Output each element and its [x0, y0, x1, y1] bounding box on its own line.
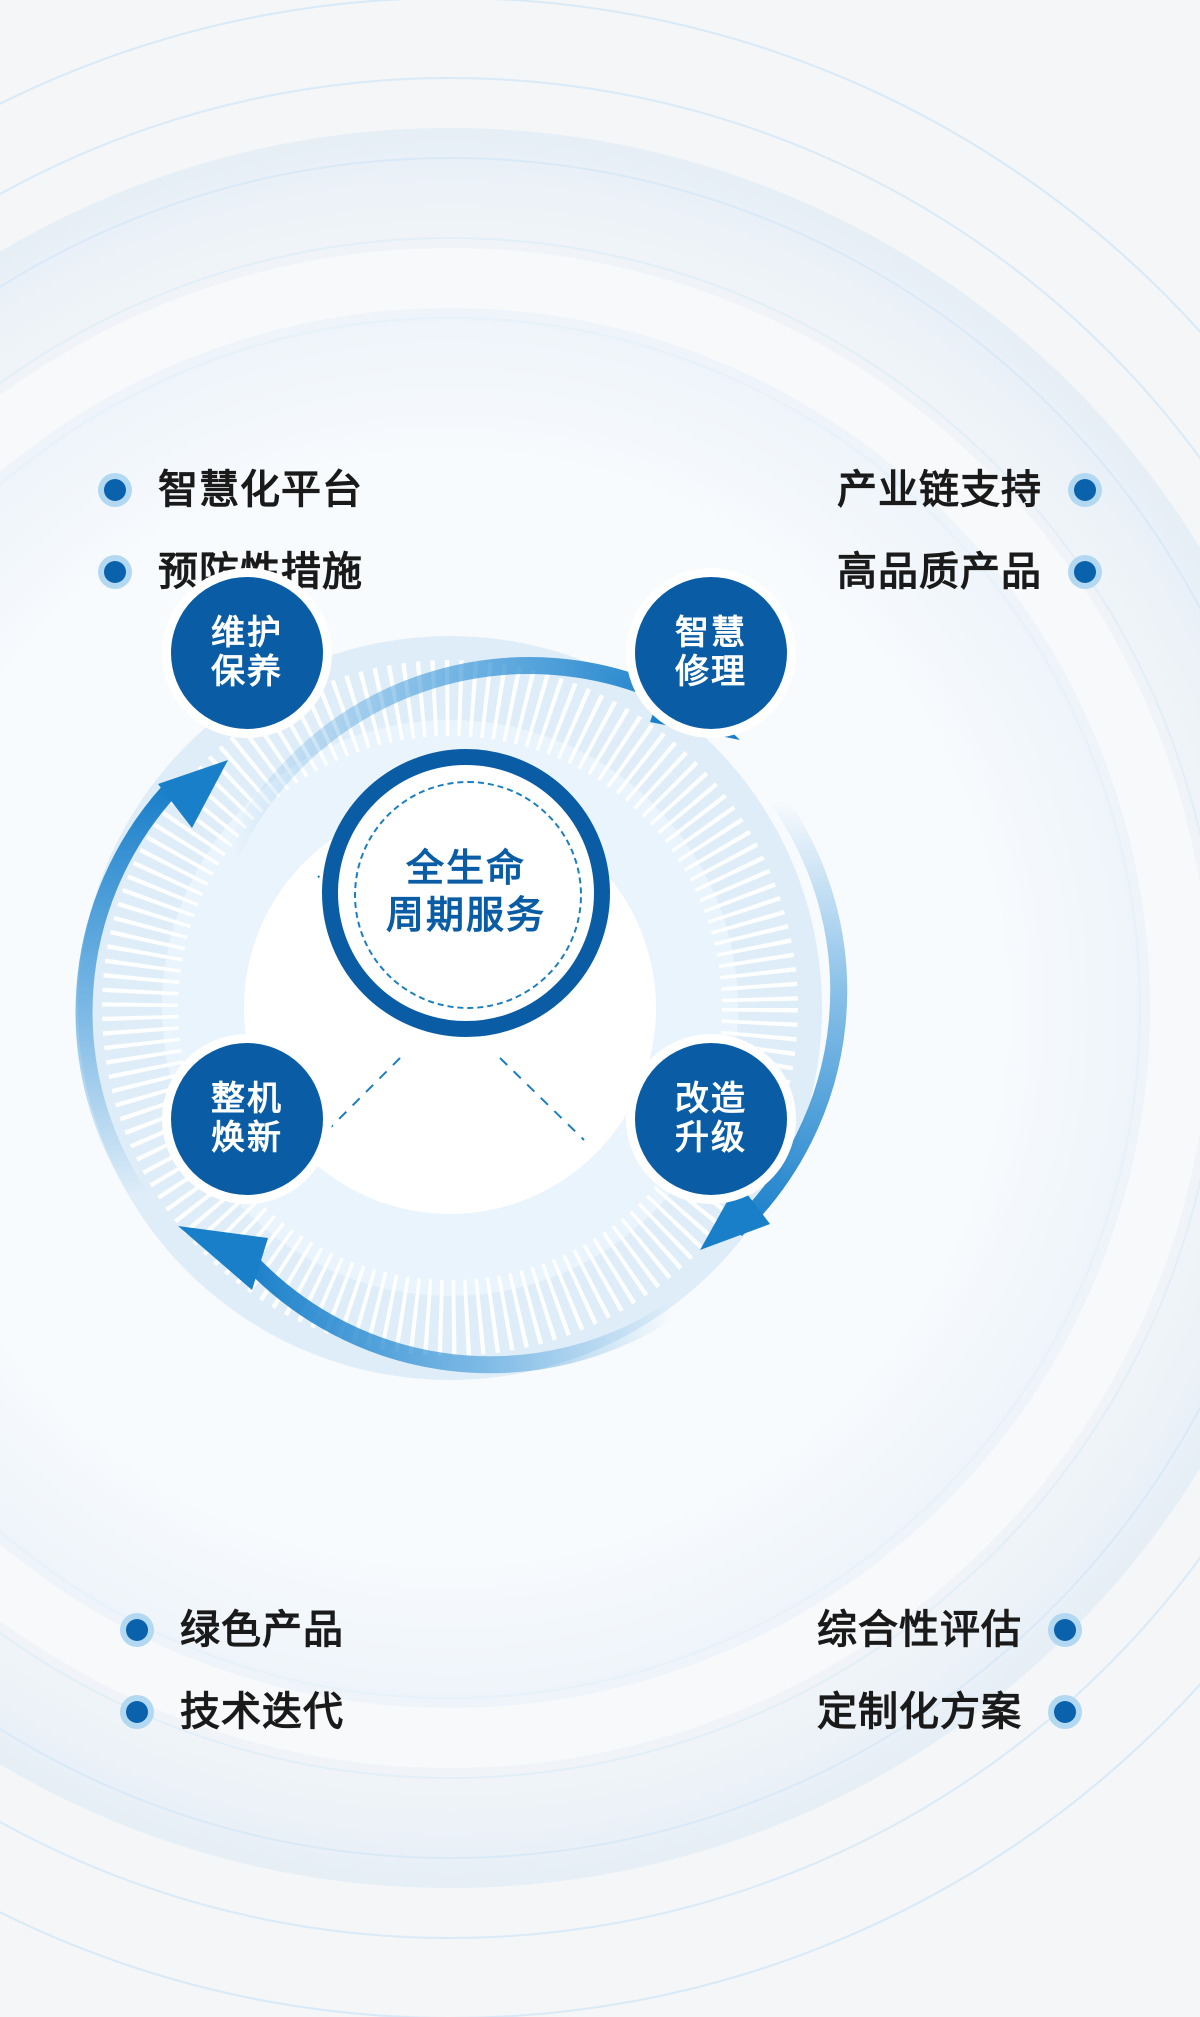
node-label-line2: 焕新 [211, 1119, 283, 1158]
label-group-bottom-right: 综合性评估 定制化方案 [817, 1610, 1082, 1732]
center-title-line1: 全生命 [406, 846, 526, 894]
center-title-line2: 周期服务 [386, 893, 546, 941]
center-hub: 全生命 周期服务 [322, 749, 610, 1037]
label-text: 技术迭代 [180, 1692, 344, 1732]
node-label-line1: 改造 [675, 1080, 747, 1119]
node-zhihui-xiuli[interactable]: 智慧 修理 [626, 568, 796, 738]
node-weihu-baoyang[interactable]: 维护 保养 [162, 568, 332, 738]
label-text: 高品质产品 [837, 552, 1042, 592]
label-item-lvse-chanpin[interactable]: 绿色产品 [120, 1610, 344, 1650]
dot-bullet-icon [98, 555, 132, 589]
label-item-jishu-diedai[interactable]: 技术迭代 [120, 1692, 344, 1732]
dot-bullet-icon [98, 473, 132, 507]
node-label-line2: 修理 [675, 653, 747, 692]
label-item-zonghexing-pinggu[interactable]: 综合性评估 [817, 1610, 1082, 1650]
label-text: 智慧化平台 [158, 470, 363, 510]
dot-bullet-icon [120, 1695, 154, 1729]
label-text: 定制化方案 [817, 1692, 1022, 1732]
label-item-chanyelian-zhichi[interactable]: 产业链支持 [837, 470, 1102, 510]
infographic-canvas: 全生命 周期服务 维护 保养 智慧 修理 整机 焕新 改造 升级 智慧化平台 预… [0, 0, 1200, 2017]
label-item-zhihuihua-pingtai[interactable]: 智慧化平台 [98, 470, 363, 510]
label-text: 综合性评估 [817, 1610, 1022, 1650]
dot-bullet-icon [1068, 555, 1102, 589]
node-gaizao-shengji[interactable]: 改造 升级 [626, 1034, 796, 1204]
dot-bullet-icon [1068, 473, 1102, 507]
label-group-bottom-left: 绿色产品 技术迭代 [120, 1610, 344, 1732]
node-zhengji-huanxin[interactable]: 整机 焕新 [162, 1034, 332, 1204]
label-text: 产业链支持 [837, 470, 1042, 510]
label-text: 绿色产品 [180, 1610, 344, 1650]
node-label-line1: 维护 [211, 614, 283, 653]
node-label-line1: 整机 [211, 1080, 283, 1119]
label-group-top-right: 产业链支持 高品质产品 [837, 470, 1102, 592]
node-label-line1: 智慧 [675, 614, 747, 653]
label-item-gaopinzhi-chanpin[interactable]: 高品质产品 [837, 552, 1102, 592]
label-item-dingzhihua-fangan[interactable]: 定制化方案 [817, 1692, 1082, 1732]
node-label-line2: 保养 [211, 653, 283, 692]
node-label-line2: 升级 [675, 1119, 747, 1158]
dot-bullet-icon [1048, 1695, 1082, 1729]
dot-bullet-icon [1048, 1613, 1082, 1647]
dot-bullet-icon [120, 1613, 154, 1647]
